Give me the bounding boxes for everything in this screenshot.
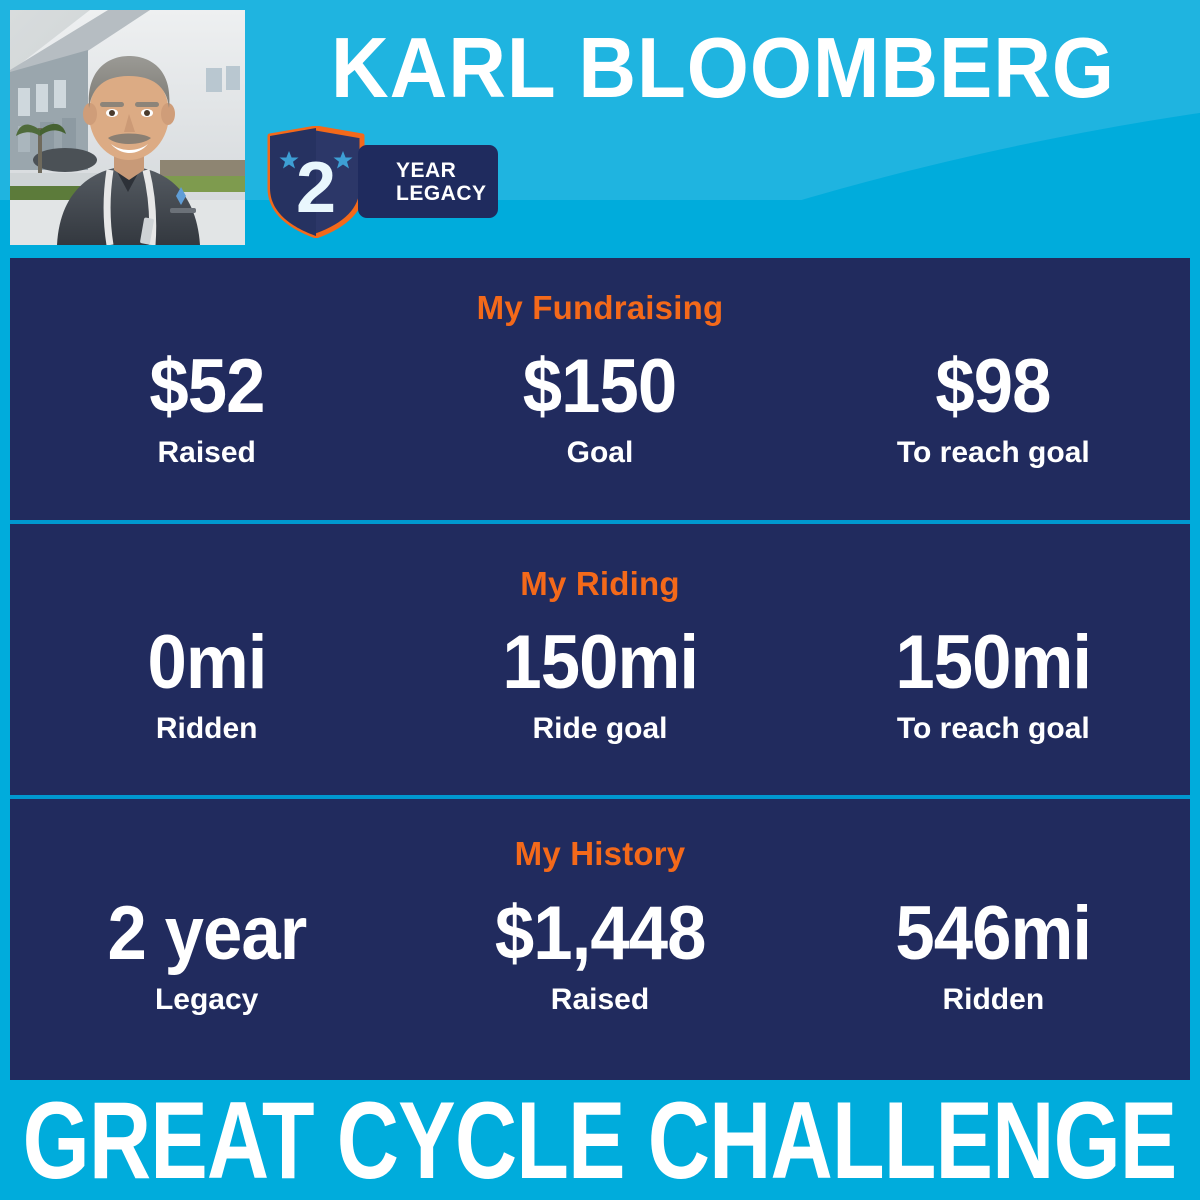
legacy-line2: LEGACY xyxy=(396,182,498,205)
stat-raised: $52 Raised xyxy=(10,344,403,470)
stat-legacy: 2 year Legacy xyxy=(10,891,403,1017)
section-title-history: My History xyxy=(10,837,1190,870)
stat-value: $98 xyxy=(936,344,1051,430)
section-history: My History 2 year Legacy $1,448 Raised 5… xyxy=(10,799,1190,1080)
stat-history-ridden: 546mi Ridden xyxy=(797,891,1190,1017)
stats-panel: My Fundraising $52 Raised $150 Goal $98 … xyxy=(10,258,1190,1080)
stat-value: 2 year xyxy=(107,891,306,977)
legacy-plate: YEAR LEGACY xyxy=(358,145,498,218)
stat-label: Ridden xyxy=(156,712,258,746)
stat-label: Goal xyxy=(567,436,634,470)
stat-ridden: 0mi Ridden xyxy=(10,620,403,746)
stats-row-fundraising: $52 Raised $150 Goal $98 To reach goal xyxy=(10,344,1190,470)
stat-label: Raised xyxy=(157,436,255,470)
section-fundraising: My Fundraising $52 Raised $150 Goal $98 … xyxy=(10,258,1190,524)
footer-banner: GREAT CYCLE CHALLENGE xyxy=(0,1080,1200,1200)
section-title-fundraising: My Fundraising xyxy=(10,291,1190,324)
stat-value: 0mi xyxy=(147,620,266,706)
stat-value: $52 xyxy=(149,344,264,430)
portrait-photo xyxy=(10,10,245,245)
stat-value: $1,448 xyxy=(495,891,706,977)
legacy-badge: 2 YEAR LEGACY xyxy=(264,126,504,238)
stat-label: To reach goal xyxy=(897,436,1090,470)
section-riding: My Riding 0mi Ridden 150mi Ride goal 150… xyxy=(10,524,1190,799)
stat-ride-to-reach-goal: 150mi To reach goal xyxy=(797,620,1190,746)
stat-history-raised: $1,448 Raised xyxy=(403,891,796,1017)
stat-label: Raised xyxy=(551,983,649,1017)
fundraiser-card: KARL BLOOMBERG 2 YEAR LEGACY My Fundrais… xyxy=(0,0,1200,1200)
stats-row-riding: 0mi Ridden 150mi Ride goal 150mi To reac… xyxy=(10,620,1190,746)
stat-label: Ride goal xyxy=(532,712,667,746)
legacy-line1: YEAR xyxy=(396,159,498,182)
stat-label: Legacy xyxy=(155,983,258,1017)
stat-value: $150 xyxy=(523,344,677,430)
stats-row-history: 2 year Legacy $1,448 Raised 546mi Ridden xyxy=(10,891,1190,1017)
person-name: KARL BLOOMBERG xyxy=(286,14,1160,122)
stat-ride-goal: 150mi Ride goal xyxy=(403,620,796,746)
section-title-riding: My Riding xyxy=(10,567,1190,600)
stat-label: Ridden xyxy=(942,983,1044,1017)
stat-goal: $150 Goal xyxy=(403,344,796,470)
stat-value: 150mi xyxy=(895,620,1091,706)
shield-icon: 2 xyxy=(264,126,368,238)
legacy-year-number: 2 xyxy=(296,148,336,228)
stat-label: To reach goal xyxy=(897,712,1090,746)
stat-to-reach-goal: $98 To reach goal xyxy=(797,344,1190,470)
stat-value: 150mi xyxy=(502,620,698,706)
brand-wordmark: GREAT CYCLE CHALLENGE xyxy=(23,1085,1177,1195)
stat-value: 546mi xyxy=(895,891,1091,977)
